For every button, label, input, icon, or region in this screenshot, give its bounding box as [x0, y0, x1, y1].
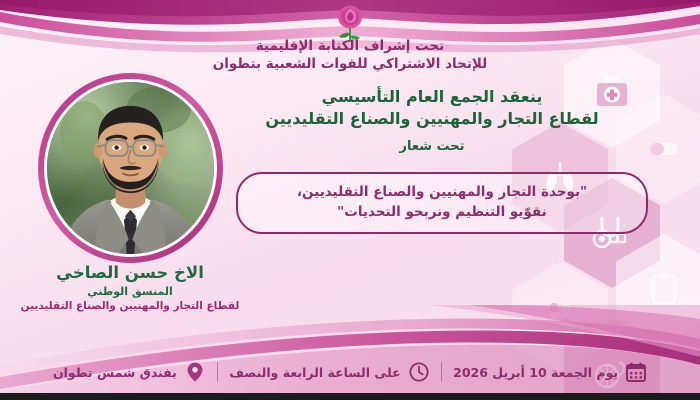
- event-date-item: يوم الجمعة 10 أبريل 2026: [442, 361, 658, 383]
- header-line-1: تحت إشراف الكتابة الإقليمية: [0, 38, 700, 56]
- speaker-info: الاخ حسن الصاخي المنسق الوطني لقطاع التج…: [14, 262, 246, 314]
- event-details-bar: يوم الجمعة 10 أبريل 2026 على الساعة الرا…: [0, 352, 700, 392]
- speaker-role: المنسق الوطني: [14, 285, 246, 299]
- calendar-icon: [625, 361, 647, 383]
- slogan-box: "بوحدة التجار والمهنيين والصناع التقليدي…: [236, 172, 648, 234]
- announcement-line-1: ينعقد الجمع العام التأسيسي: [222, 86, 642, 108]
- event-time-text: على الساعة الرابعة والنصف: [229, 365, 400, 380]
- event-poster: تحت إشراف الكتابة الإقليمية للإتحاد الاش…: [0, 0, 700, 400]
- info-separator-1: [441, 362, 443, 382]
- event-location-item: بفندق شمس تطوان: [42, 361, 217, 383]
- slogan-line-2: نقوّيو التنظيم ونربحو التحديات": [254, 203, 630, 223]
- header-supervision-text: تحت إشراف الكتابة الإقليمية للإتحاد الاش…: [0, 38, 700, 74]
- portrait-ring: [38, 73, 223, 263]
- event-location-text: بفندق شمس تطوان: [53, 365, 177, 380]
- event-date-text: يوم الجمعة 10 أبريل 2026: [453, 365, 618, 380]
- location-pin-icon: [184, 361, 206, 383]
- clock-icon: [408, 361, 430, 383]
- speaker-name: الاخ حسن الصاخي: [14, 262, 246, 283]
- portrait-inner-ring: [44, 79, 217, 257]
- announcement-line-2: لقطاع التجار والمهنيين والصناع التقليديي…: [222, 108, 642, 130]
- speaker-portrait: [38, 73, 223, 263]
- header-line-2: للإتحاد الاشتراكي للقوات الشعبية بتطوان: [0, 56, 700, 74]
- slogan-line-1: "بوحدة التجار والمهنيين والصناع التقليدي…: [254, 183, 630, 203]
- event-time-item: على الساعة الرابعة والنصف: [218, 361, 440, 383]
- clipboard-icon: [616, 234, 700, 344]
- info-separator-2: [217, 362, 219, 382]
- announcement-text: ينعقد الجمع العام التأسيسي لقطاع التجار …: [222, 86, 642, 156]
- bottom-black-strip: [0, 393, 700, 400]
- announcement-line-3: تحت شعار: [222, 138, 642, 156]
- avatar: [47, 82, 214, 254]
- speaker-sector: لقطاع التجار والمهنيين والصناع التقليديي…: [14, 300, 246, 313]
